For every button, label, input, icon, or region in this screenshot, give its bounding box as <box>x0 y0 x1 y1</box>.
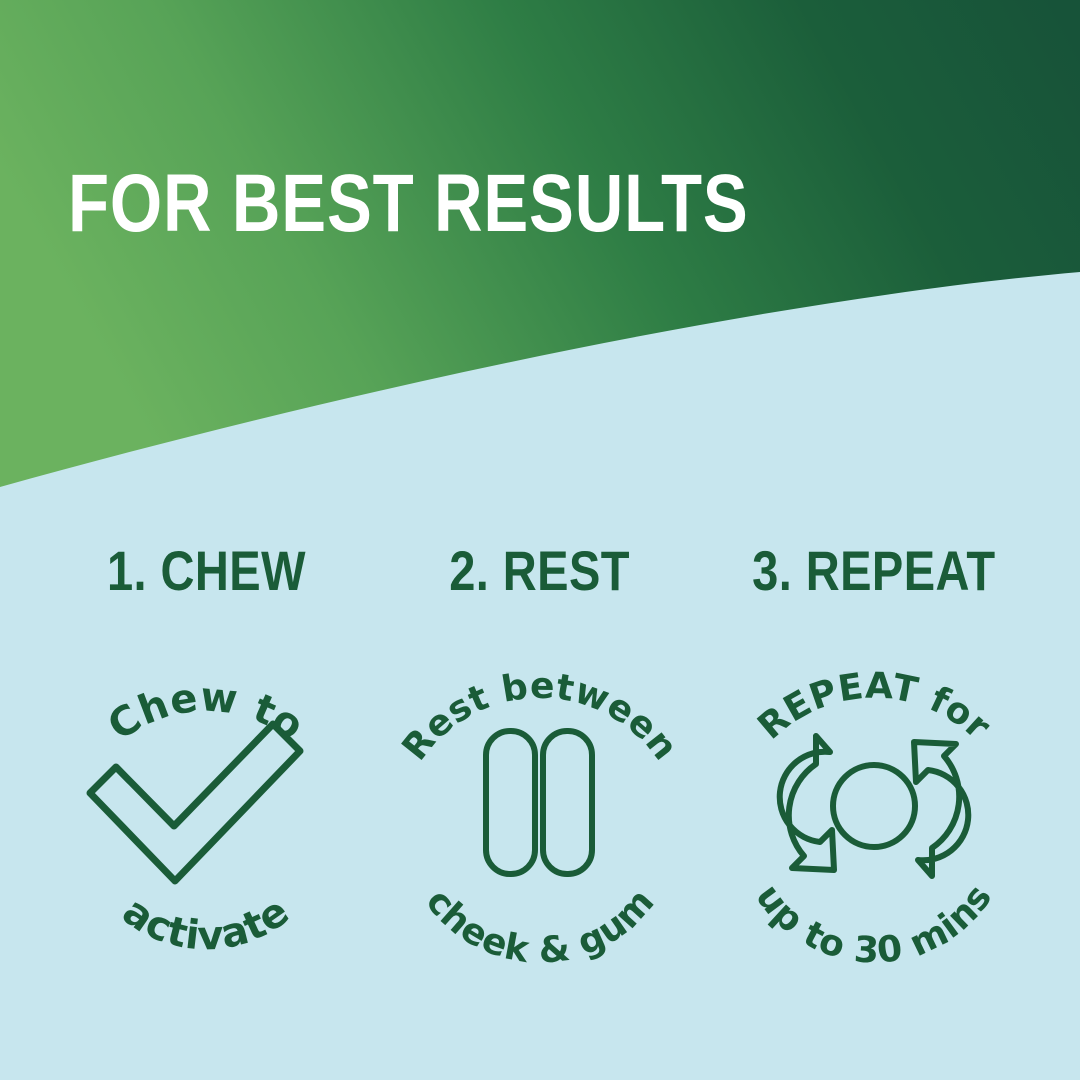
arc-text-bottom-chew-path: activate <box>114 888 298 960</box>
steps-row: 1. CHEW Chew to activate <box>0 536 1080 964</box>
step-heading-repeat: 3. REPEAT <box>752 536 995 606</box>
badge-repeat-graphic: REPEAT for up to 30 mins <box>712 634 1036 964</box>
arc-text-top-rest: Rest between <box>394 666 685 769</box>
step-chew: 1. CHEW Chew to activate <box>44 536 368 964</box>
two-pouches-icon <box>486 731 592 874</box>
arc-text-top-repeat-path: REPEAT for <box>750 666 998 748</box>
arc-text-top-chew: Chew to <box>100 674 312 750</box>
step-heading-chew: 1. CHEW <box>107 536 306 606</box>
repeat-cycle-icon <box>780 736 969 876</box>
badge-chew-graphic: Chew to activate <box>44 634 368 964</box>
badge-rest: Rest between cheek & gum <box>378 634 702 964</box>
arc-text-bottom-rest-path: cheek & gum <box>418 881 663 972</box>
arc-text-bottom-chew: activate <box>114 888 298 960</box>
checkmark-icon <box>90 724 300 881</box>
badge-rest-graphic: Rest between cheek & gum <box>378 634 702 964</box>
badge-chew: Chew to activate <box>44 634 368 964</box>
poster-root: FOR BEST RESULTS 1. CHEW Chew to <box>0 0 1080 1080</box>
arc-text-bottom-rest: cheek & gum <box>418 881 663 972</box>
arc-text-bottom-repeat-path: up to 30 mins <box>748 877 1001 972</box>
page-title: FOR BEST RESULTS <box>68 163 749 245</box>
header-band <box>0 0 1080 520</box>
step-rest: 2. REST Rest between <box>378 536 702 964</box>
header-shape <box>0 0 1080 520</box>
arc-text-top-rest-path: Rest between <box>394 666 685 769</box>
arc-text-bottom-repeat: up to 30 mins <box>748 877 1001 972</box>
step-heading-rest: 2. REST <box>450 536 631 606</box>
badge-repeat: REPEAT for up to 30 mins <box>712 634 1036 964</box>
step-repeat: 3. REPEAT REPEAT for <box>712 536 1036 964</box>
arc-text-top-repeat: REPEAT for <box>750 666 998 748</box>
arc-text-top-chew-path: Chew to <box>100 674 312 750</box>
